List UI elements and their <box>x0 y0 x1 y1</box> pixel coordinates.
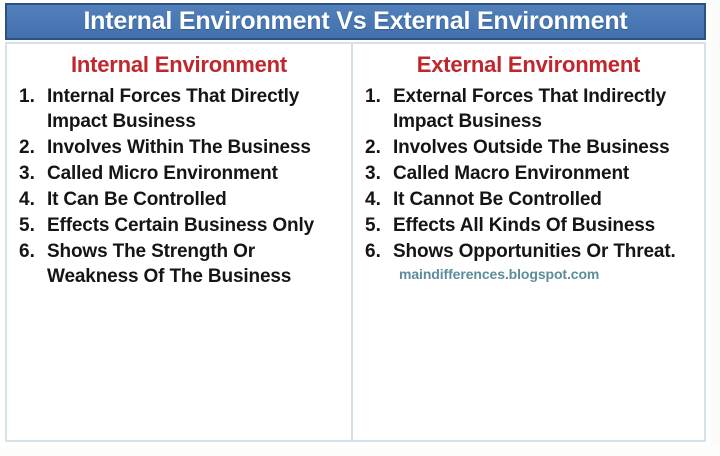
list-external-environment: 1. External Forces That Indirectly Impac… <box>359 84 698 264</box>
list-item-number: 2. <box>13 135 47 160</box>
list-item: 4. It Cannot Be Controlled <box>359 187 698 212</box>
list-item-number: 4. <box>13 187 47 212</box>
list-item: 3. Called Micro Environment <box>13 161 345 186</box>
column-external-environment: External Environment 1. External Forces … <box>353 44 704 440</box>
list-item-text: Shows The Strength Or Weakness Of The Bu… <box>47 239 319 289</box>
list-item: 5. Effects Certain Business Only <box>13 213 345 238</box>
list-item: 4. It Can Be Controlled <box>13 187 345 212</box>
list-item-text: Involves Within The Business <box>47 135 319 160</box>
list-internal-environment: 1. Internal Forces That Directly Impact … <box>13 84 345 289</box>
page-title: Internal Environment Vs External Environ… <box>83 7 627 36</box>
list-item-text: Effects Certain Business Only <box>47 213 319 238</box>
title-banner: Internal Environment Vs External Environ… <box>5 3 706 40</box>
column-heading-external: External Environment <box>359 52 698 78</box>
list-item: 3. Called Macro Environment <box>359 161 698 186</box>
list-item-number: 6. <box>359 239 393 264</box>
comparison-infographic: Internal Environment Vs External Environ… <box>0 0 720 456</box>
list-item-number: 5. <box>359 213 393 238</box>
page-edge-right <box>711 0 720 456</box>
column-heading-internal: Internal Environment <box>13 52 345 78</box>
list-item-number: 1. <box>359 84 393 109</box>
list-item-number: 4. <box>359 187 393 212</box>
list-item-number: 6. <box>13 239 47 264</box>
list-item-number: 5. <box>13 213 47 238</box>
list-item: 1. Internal Forces That Directly Impact … <box>13 84 345 134</box>
list-item-text: External Forces That Indirectly Impact B… <box>393 84 681 134</box>
list-item-number: 1. <box>13 84 47 109</box>
column-internal-environment: Internal Environment 1. Internal Forces … <box>7 44 353 440</box>
list-item-number: 3. <box>359 161 393 186</box>
list-item-text: Called Micro Environment <box>47 161 319 186</box>
list-item: 5. Effects All Kinds Of Business <box>359 213 698 238</box>
list-item-text: Internal Forces That Directly Impact Bus… <box>47 84 319 134</box>
list-item-number: 3. <box>13 161 47 186</box>
list-item-text: Effects All Kinds Of Business <box>393 213 681 238</box>
source-attribution: maindifferences.blogspot.com <box>399 265 698 283</box>
list-item: 2. Involves Outside The Business <box>359 135 698 160</box>
page-edge-bottom <box>0 446 720 456</box>
list-item-text: It Cannot Be Controlled <box>393 187 681 212</box>
list-item: 6. Shows The Strength Or Weakness Of The… <box>13 239 345 289</box>
list-item-text: Shows Opportunities Or Threat. <box>393 239 681 264</box>
list-item-text: Involves Outside The Business <box>393 135 681 160</box>
list-item: 6. Shows Opportunities Or Threat. <box>359 239 698 264</box>
list-item-text: It Can Be Controlled <box>47 187 319 212</box>
list-item: 1. External Forces That Indirectly Impac… <box>359 84 698 134</box>
list-item-text: Called Macro Environment <box>393 161 681 186</box>
list-item-number: 2. <box>359 135 393 160</box>
comparison-table: Internal Environment 1. Internal Forces … <box>5 42 706 442</box>
list-item: 2. Involves Within The Business <box>13 135 345 160</box>
